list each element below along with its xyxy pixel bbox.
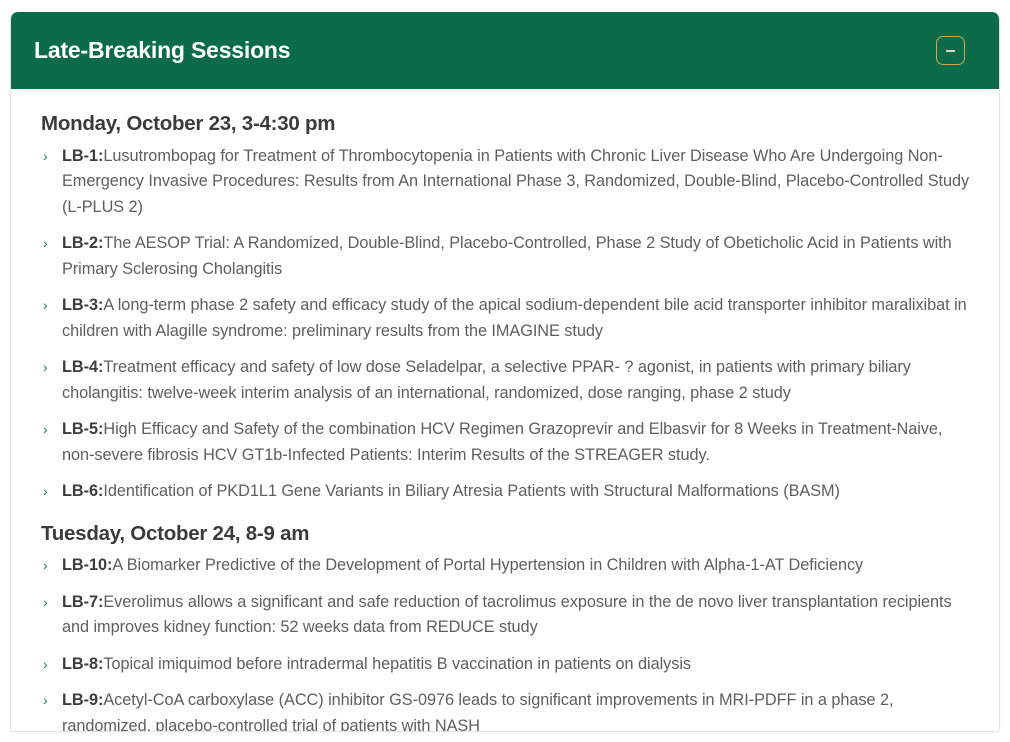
panel-body: Monday, October 23, 3-4:30 pm›LB-1:Lusut… [11,89,999,732]
chevron-right-icon: › [43,293,55,317]
chevron-right-icon: › [43,652,55,676]
chevron-right-icon: › [43,231,55,255]
session-code: LB-10: [62,556,112,574]
session-list-item[interactable]: ›LB-1:Lusutrombopag for Treatment of Thr… [41,144,971,221]
panel-header: Late-Breaking Sessions [11,12,999,89]
session-title: Treatment efficacy and safety of low dos… [62,358,911,402]
chevron-right-icon: › [43,479,55,503]
session-list-item[interactable]: ›LB-10:A Biomarker Predictive of the Dev… [41,553,971,579]
chevron-right-icon: › [43,590,55,614]
session-code: LB-9: [62,691,103,709]
session-list-item[interactable]: ›LB-3:A long-term phase 2 safety and eff… [41,293,971,344]
session-code: LB-8: [62,655,103,673]
session-list-item[interactable]: ›LB-9:Acetyl-CoA carboxylase (ACC) inhib… [41,688,971,732]
session-code: LB-1: [62,147,103,165]
chevron-right-icon: › [43,144,55,168]
day-heading: Monday, October 23, 3-4:30 pm [41,111,971,137]
session-title: Acetyl-CoA carboxylase (ACC) inhibitor G… [62,691,893,732]
collapse-panel-button[interactable] [936,36,965,65]
chevron-right-icon: › [43,688,55,712]
minus-icon [946,50,955,52]
session-list-item[interactable]: ›LB-4:Treatment efficacy and safety of l… [41,355,971,406]
session-list-item[interactable]: ›LB-8:Topical imiquimod before intraderm… [41,652,971,678]
late-breaking-sessions-panel: Late-Breaking Sessions Monday, October 2… [10,12,1000,732]
session-title: High Efficacy and Safety of the combinat… [62,420,942,464]
session-list-item[interactable]: ›LB-6:Identification of PKD1L1 Gene Vari… [41,479,971,505]
session-title: The AESOP Trial: A Randomized, Double-Bl… [62,234,952,278]
chevron-right-icon: › [43,417,55,441]
session-code: LB-6: [62,482,103,500]
session-title: Everolimus allows a significant and safe… [62,593,952,637]
session-code: LB-2: [62,234,103,252]
chevron-right-icon: › [43,355,55,379]
session-title: Topical imiquimod before intradermal hep… [103,655,691,673]
session-list-item[interactable]: ›LB-2:The AESOP Trial: A Randomized, Dou… [41,231,971,282]
session-code: LB-4: [62,358,103,376]
session-list-item[interactable]: ›LB-5:High Efficacy and Safety of the co… [41,417,971,468]
session-code: LB-3: [62,296,103,314]
session-title: Identification of PKD1L1 Gene Variants i… [103,482,840,500]
chevron-right-icon: › [43,553,55,577]
page-title: Late-Breaking Sessions [34,38,936,63]
session-code: LB-5: [62,420,103,438]
session-list: ›LB-1:Lusutrombopag for Treatment of Thr… [41,144,971,505]
day-heading: Tuesday, October 24, 8-9 am [41,521,971,547]
session-list-item[interactable]: ›LB-7:Everolimus allows a significant an… [41,590,971,641]
session-title: A Biomarker Predictive of the Developmen… [112,556,863,574]
session-code: LB-7: [62,593,103,611]
session-title: Lusutrombopag for Treatment of Thrombocy… [62,147,969,216]
session-title: A long-term phase 2 safety and efficacy … [62,296,967,340]
session-list: ›LB-10:A Biomarker Predictive of the Dev… [41,553,971,732]
sessions-container: Monday, October 23, 3-4:30 pm›LB-1:Lusut… [41,111,971,732]
